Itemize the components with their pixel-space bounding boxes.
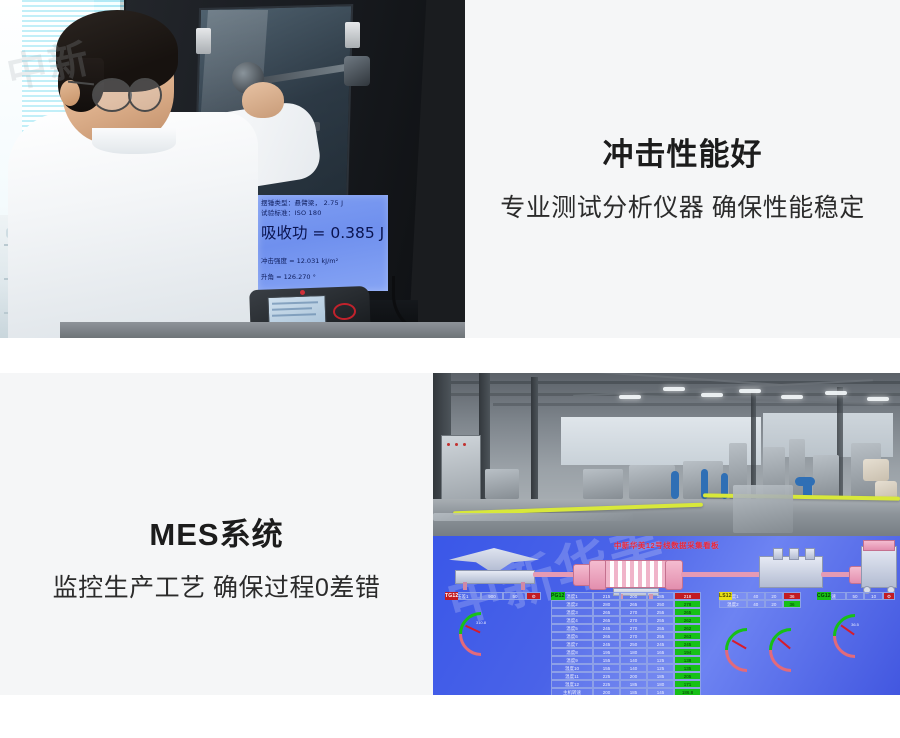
panel2-title: MES系统: [0, 509, 433, 554]
display-test-standard: 试验标准：ISO 180: [261, 207, 322, 217]
table-cell: 140: [620, 656, 647, 664]
table-cell: 温度4: [551, 616, 593, 624]
factory-control-cabinet: [441, 435, 481, 509]
table-cell: 270: [620, 608, 647, 616]
table-cell: 温度5: [551, 624, 593, 632]
table-cell: 200: [620, 592, 647, 600]
table-cell: 200: [620, 672, 647, 680]
pelletizer-icon: [861, 546, 897, 588]
station-tg12-header: TG12: [445, 592, 458, 600]
panel-impact-performance: 摆锤类型：悬臂梁， 2.75 J 试验标准：ISO 180 吸收功 = 0.38…: [0, 0, 900, 338]
table-cell: 135: [674, 664, 701, 672]
absorbed-energy-label: 吸收功 =: [261, 224, 325, 242]
impact-strength-value: 12.031: [297, 257, 320, 265]
table-cell: 180: [620, 648, 647, 656]
table-cell: 270: [620, 632, 647, 640]
table-cell: 280: [593, 600, 620, 608]
table-cell: 262: [674, 616, 701, 624]
display-impact-strength: 冲击强度 = 12.031 kJ/m²: [261, 255, 338, 265]
panel2-subtitle: 监控生产工艺 确保过程0差错: [0, 568, 433, 604]
table-cell: 温度2: [719, 600, 747, 608]
table-row: 温度8195180165194: [551, 648, 701, 656]
ls12-gauge-1: [725, 628, 769, 654]
table-cell: 171: [674, 680, 701, 688]
table-cell: 185: [620, 680, 647, 688]
station-tg12-row: 压差1 900 50 ⚙: [445, 592, 541, 600]
impact-strength-unit: kJ/m²: [321, 257, 338, 265]
table-cell: 温度10: [551, 664, 593, 672]
station-cg12-header: CG12: [817, 592, 831, 600]
technician-ear: [60, 80, 80, 106]
display-rise-angle: 升角 = 126.270 °: [261, 271, 316, 281]
impact-tester-photo: 摆锤类型：悬臂梁， 2.75 J 试验标准：ISO 180 吸收功 = 0.38…: [0, 0, 465, 338]
instrument-result-display: 摆锤类型：悬臂梁， 2.75 J 试验标准：ISO 180 吸收功 = 0.38…: [258, 195, 388, 291]
table-cell: 265: [674, 608, 701, 616]
table-cell: 36: [783, 600, 801, 608]
dashboard-title: 中新华美12号线数据采集看板: [433, 540, 900, 551]
table-cell: 165: [647, 648, 674, 656]
technician-hand: [242, 82, 284, 118]
table-cell: 140: [620, 664, 647, 672]
table-cell: 温度7: [551, 640, 593, 648]
table-cell: 125: [647, 656, 674, 664]
table-cell: 36: [783, 592, 801, 600]
table-cell: 180: [647, 680, 674, 688]
door-latch-right: [345, 22, 360, 48]
panel-mes-system: MES系统 监控生产工艺 确保过程0差错: [0, 373, 900, 695]
table-row: 温度9155140125138: [551, 656, 701, 664]
rise-angle-value: 126.270: [284, 273, 311, 281]
station-pg12-rows: 温度1215200185218温度2280265250278温度32652702…: [551, 592, 701, 695]
table-cell: 265: [593, 608, 620, 616]
lab-floor: [60, 322, 465, 338]
impact-strength-label: 冲击强度 =: [261, 257, 295, 265]
table-row: 温度10155140125135: [551, 664, 701, 672]
pendulum-hammer: [344, 56, 370, 86]
table-cell: 145: [647, 688, 674, 695]
tg12-cell-limit: 50: [503, 592, 526, 600]
table-cell: 200: [593, 688, 620, 695]
table-row: 温度4265270255262: [551, 616, 701, 624]
eyeglasses-left-lens: [92, 78, 132, 112]
table-row: 温度5245270255262: [551, 624, 701, 632]
table-cell: 40: [747, 592, 765, 600]
table-row: 温度7245250245245: [551, 640, 701, 648]
table-row: 温度3265270255265: [551, 608, 701, 616]
station-pg12-header: PG12: [551, 592, 565, 600]
table-cell: 255: [647, 608, 674, 616]
table-cell: 245: [593, 624, 620, 632]
tg12-settings-icon[interactable]: ⚙: [526, 592, 541, 600]
table-cell: 255: [647, 632, 674, 640]
table-cell: 185: [647, 672, 674, 680]
table-cell: 温度8: [551, 648, 593, 656]
product-detail-page: 摆锤类型：悬臂梁， 2.75 J 试验标准：ISO 180 吸收功 = 0.38…: [0, 0, 900, 738]
cg12-cell-set: 50: [846, 592, 865, 600]
status-led: [300, 290, 305, 295]
table-cell: 温度9: [551, 656, 593, 664]
table-cell: 温度12: [551, 680, 593, 688]
display-absorbed-energy: 吸收功 = 0.385 J: [261, 221, 384, 243]
table-cell: 40: [747, 600, 765, 608]
station-ls12-header: LS12: [719, 592, 732, 600]
mes-text-block: MES系统 监控生产工艺 确保过程0差错: [0, 373, 433, 695]
table-cell: 205: [674, 672, 701, 680]
cg12-settings-icon[interactable]: ⚙: [883, 592, 895, 600]
panel1-title: 冲击性能好: [465, 129, 900, 174]
table-cell: 255: [647, 624, 674, 632]
table-cell: 245: [647, 640, 674, 648]
table-cell: 20: [765, 600, 783, 608]
table-row: 温度11225200185205: [551, 672, 701, 680]
station-cg12: CG12 转速 50 10 ⚙: [817, 592, 895, 600]
table-cell: 255: [647, 616, 674, 624]
tg12-gauge-value: 310.8: [459, 620, 503, 625]
table-row: 主机转速200185145186.8: [551, 688, 701, 695]
ls12-gauge-2: [769, 628, 813, 654]
station-pg12: PG12 温度1215200185218温度2280265250278温度326…: [551, 592, 701, 695]
table-cell: 温度11: [551, 672, 593, 680]
table-cell: 262: [674, 624, 701, 632]
table-row: 温度6265270255263: [551, 632, 701, 640]
table-cell: 186.8: [674, 688, 701, 695]
eyeglasses-bridge: [126, 90, 132, 92]
table-cell: 265: [593, 632, 620, 640]
mes-dashboard: 中新华美 中新华美12号线数据采集看板: [433, 536, 900, 695]
table-cell: 125: [647, 664, 674, 672]
table-cell: 250: [620, 640, 647, 648]
table-cell: 185: [620, 688, 647, 695]
absorbed-energy-unit: J: [380, 224, 385, 242]
table-cell: 185: [647, 592, 674, 600]
factory-floor-photo: [433, 373, 900, 536]
table-cell: 225: [593, 680, 620, 688]
table-row: 温度1215200185218: [551, 592, 701, 600]
impact-performance-text-block: 冲击性能好 专业测试分析仪器 确保性能稳定: [465, 0, 900, 338]
labcoat-collar: [92, 128, 176, 154]
panel1-subtitle: 专业测试分析仪器 确保性能稳定: [465, 188, 900, 224]
extruder-barrel-icon: [605, 560, 667, 588]
mes-media-column: 中新华美 中新华美12号线数据采集看板: [433, 373, 900, 695]
table-row: 温度12225185180171: [551, 680, 701, 688]
door-latch-upper: [196, 28, 211, 54]
table-cell: 250: [647, 600, 674, 608]
table-cell: 245: [593, 640, 620, 648]
eyeglasses-right-lens: [128, 78, 162, 112]
table-cell: 215: [593, 592, 620, 600]
table-cell: 245: [674, 640, 701, 648]
table-row: 温度2402036: [719, 600, 801, 608]
table-cell: 263: [674, 632, 701, 640]
table-cell: 225: [593, 672, 620, 680]
rise-angle-label: 升角 =: [261, 273, 282, 281]
table-cell: 温度6: [551, 632, 593, 640]
table-cell: 270: [620, 616, 647, 624]
cg12-gauge-value: 36.5: [833, 622, 877, 627]
cg12-cell-limit: 10: [864, 592, 883, 600]
table-cell: 155: [593, 664, 620, 672]
station-tg12: TG12 压差1 900 50 ⚙: [445, 592, 541, 600]
table-cell: 195: [593, 648, 620, 656]
table-cell: 265: [620, 600, 647, 608]
tg12-cell-set: 900: [481, 592, 504, 600]
table-cell: 278: [674, 600, 701, 608]
table-cell: 270: [620, 624, 647, 632]
rise-angle-unit: °: [313, 273, 316, 281]
table-row: 温度2280265250278: [551, 600, 701, 608]
table-cell: 138: [674, 656, 701, 664]
table-cell: 218: [674, 592, 701, 600]
table-cell: 194: [674, 648, 701, 656]
table-cell: 20: [765, 592, 783, 600]
cg12-gauge: 36.5: [833, 614, 877, 640]
table-cell: 265: [593, 616, 620, 624]
tg12-gauge: 310.8: [459, 612, 503, 638]
table-cell: 主机转速: [551, 688, 593, 695]
station-ls12: LS12 温度1402036温度2402036: [719, 592, 801, 608]
table-cell: 155: [593, 656, 620, 664]
table-cell: 温度2: [551, 600, 593, 608]
table-cell: 温度3: [551, 608, 593, 616]
absorbed-energy-value: 0.385: [330, 224, 374, 242]
display-pendulum-type: 摆锤类型：悬臂梁， 2.75 J: [261, 197, 343, 207]
